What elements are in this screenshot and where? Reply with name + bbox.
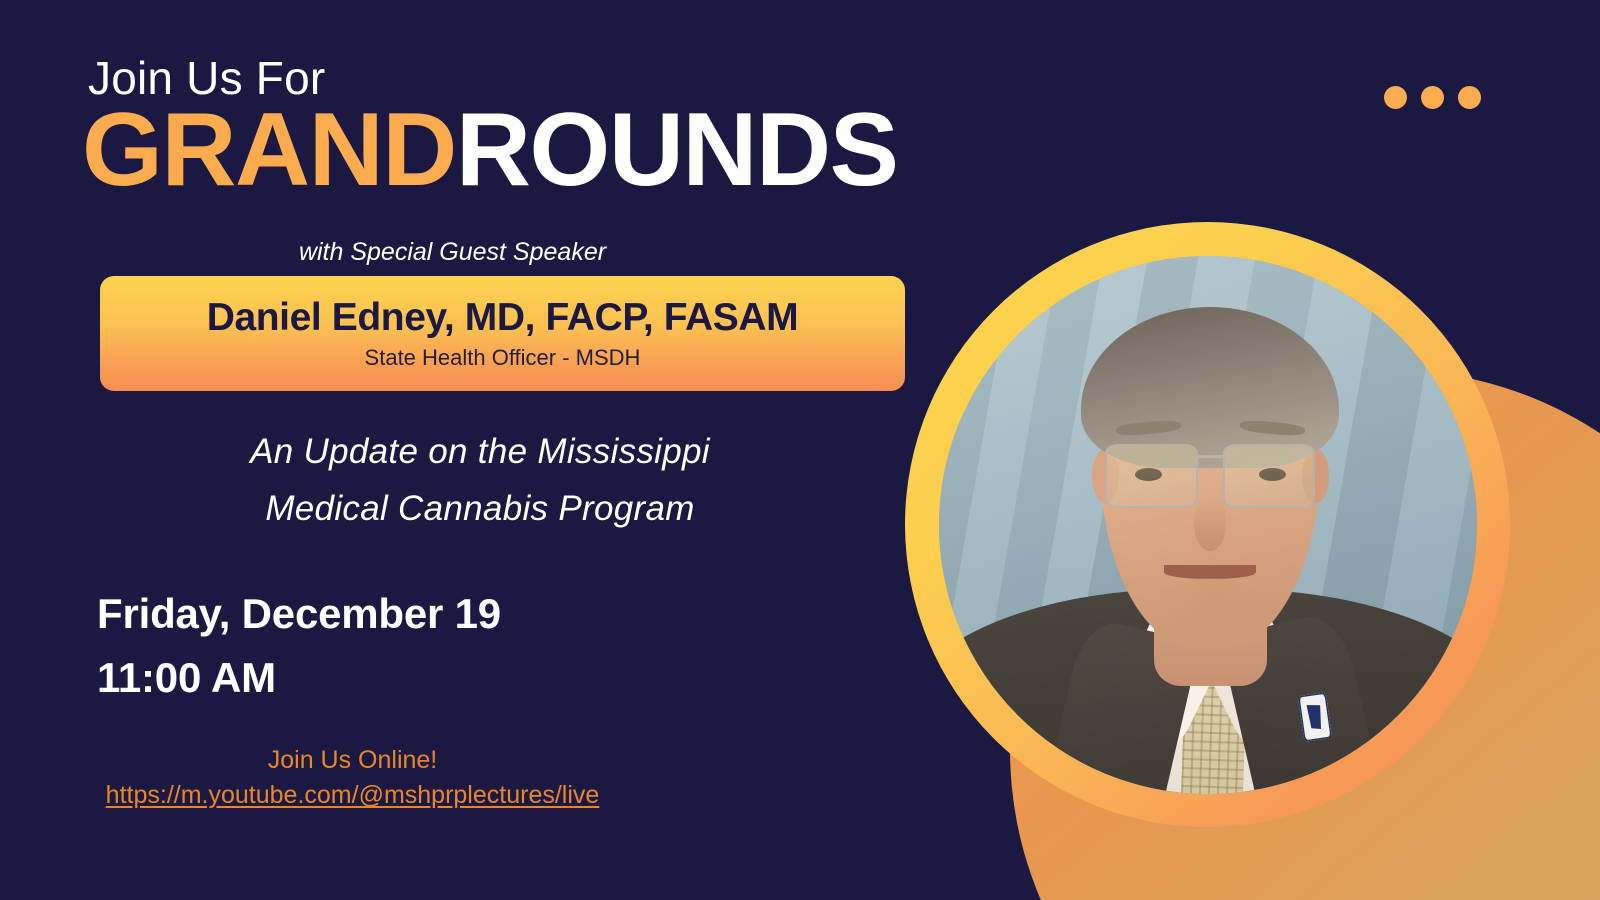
speaker-portrait [939, 256, 1477, 794]
page-title: GRANDROUNDS [82, 98, 898, 202]
glasses-lens-left [1105, 444, 1197, 509]
speaker-banner: Daniel Edney, MD, FACP, FASAM State Heal… [100, 276, 905, 391]
headline-rounds: ROUNDS [456, 92, 898, 208]
grand-rounds-flyer: Join Us For GRANDROUNDS with Special Gue… [0, 0, 1600, 900]
online-label: Join Us Online! [0, 745, 705, 776]
event-time: 11:00 AM [97, 646, 501, 710]
glasses-bridge [1198, 455, 1223, 458]
portrait-ring [905, 222, 1510, 827]
dot-icon [1458, 86, 1481, 109]
dot-icon [1421, 86, 1444, 109]
speaker-name: Daniel Edney, MD, FACP, FASAM [207, 297, 799, 340]
talk-title: An Update on the Mississippi Medical Can… [0, 424, 960, 537]
event-datetime: Friday, December 19 11:00 AM [97, 582, 501, 710]
portrait-chin [1154, 578, 1267, 632]
speaker-intro-text: with Special Guest Speaker [0, 238, 905, 267]
glasses-lens-right [1223, 444, 1315, 509]
livestream-link[interactable]: https://m.youtube.com/@mshprplectures/li… [106, 781, 600, 810]
portrait-mouth [1164, 565, 1255, 579]
content-column: Join Us For GRANDROUNDS with Special Gue… [0, 0, 930, 900]
speaker-title: State Health Officer - MSDH [365, 346, 641, 370]
talk-title-line-2: Medical Cannabis Program [0, 481, 960, 538]
headline-grand: GRAND [82, 92, 456, 208]
dot-icon [1384, 86, 1407, 109]
decorative-dots [1384, 86, 1481, 109]
mississippi-lapel-pin-icon [1298, 692, 1332, 741]
online-join-block: Join Us Online! https://m.youtube.com/@m… [0, 745, 705, 810]
talk-title-line-1: An Update on the Mississippi [0, 424, 960, 481]
event-date: Friday, December 19 [97, 582, 501, 646]
